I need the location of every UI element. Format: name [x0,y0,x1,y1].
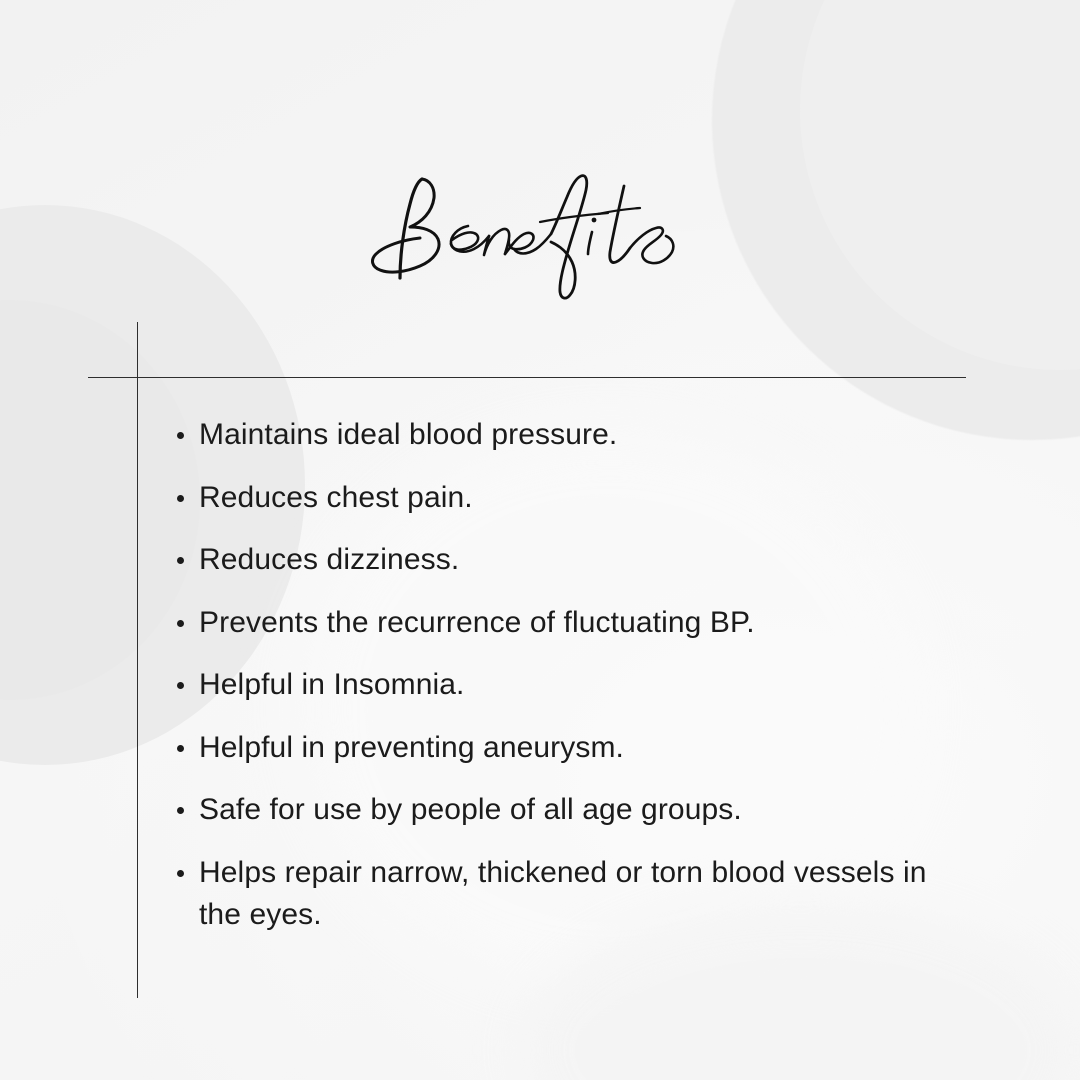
benefits-poster: Benefits Maintains ideal blood pressure.… [0,0,1080,1080]
list-item-label: Safe for use by people of all age groups… [199,789,975,831]
bullet-icon [177,432,184,439]
bullet-icon [177,745,184,752]
blob-top-right [712,0,1080,440]
benefits-script-title-icon [360,168,720,308]
list-item: Reduces chest pain. [175,477,975,519]
page-title: Benefits [360,168,720,308]
list-item: Safe for use by people of all age groups… [175,789,975,831]
bullet-icon [177,807,184,814]
blob-top-right-inner [800,0,1080,370]
bullet-icon [177,620,184,627]
list-item: Prevents the recurrence of fluctuating B… [175,602,975,644]
list-item-label: Helpful in preventing aneurysm. [199,727,975,769]
list-item: Maintains ideal blood pressure. [175,414,975,456]
vertical-rule [137,322,138,998]
list-item: Helps repair narrow, thickened or torn b… [175,852,975,936]
list-item-label: Reduces chest pain. [199,477,975,519]
list-item: Helpful in preventing aneurysm. [175,727,975,769]
list-item-label: Reduces dizziness. [199,539,975,581]
bullet-icon [177,870,184,877]
horizontal-rule [88,377,966,378]
benefits-list: Maintains ideal blood pressure. Reduces … [175,414,975,956]
blob-left-inner [0,300,200,700]
bullet-icon [177,495,184,502]
list-item: Reduces dizziness. [175,539,975,581]
list-item-label: Prevents the recurrence of fluctuating B… [199,602,975,644]
list-item-label: Maintains ideal blood pressure. [199,414,975,456]
bullet-icon [177,557,184,564]
bullet-icon [177,682,184,689]
list-item-label: Helpful in Insomnia. [199,664,975,706]
list-item: Helpful in Insomnia. [175,664,975,706]
list-item-label: Helps repair narrow, thickened or torn b… [199,852,975,936]
